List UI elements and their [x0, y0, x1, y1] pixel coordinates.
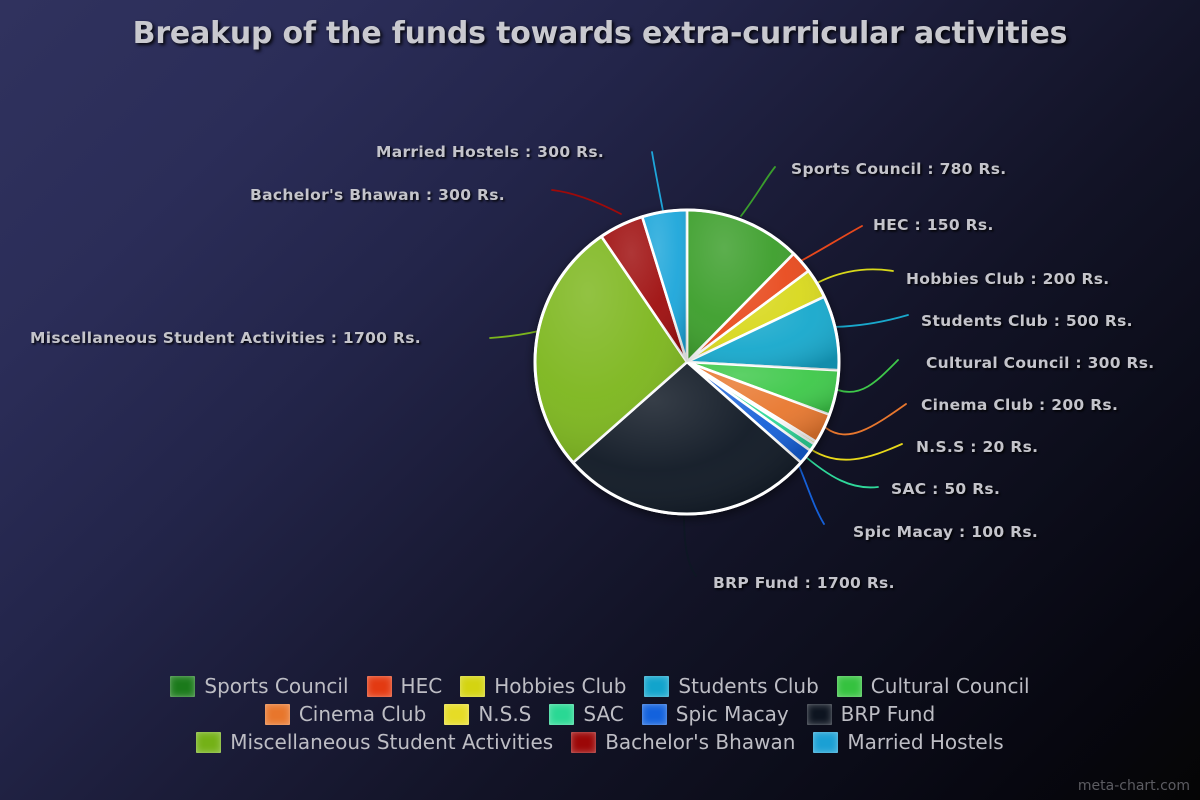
legend-label-sports-council: Sports Council — [204, 676, 348, 696]
leader-line-brp-fund — [684, 514, 696, 576]
legend-item-sports-council[interactable]: Sports Council — [170, 676, 348, 697]
legend-label-spic-macay: Spic Macay — [676, 704, 789, 724]
leader-line-sports-council — [741, 167, 775, 216]
legend-label-brp-fund: BRP Fund — [841, 704, 936, 724]
legend-item-hobbies-club[interactable]: Hobbies Club — [460, 676, 626, 697]
legend-swatch-bachelor-s-bhawan — [571, 732, 596, 753]
legend-row: Sports CouncilHECHobbies ClubStudents Cl… — [0, 672, 1200, 700]
legend-swatch-hobbies-club — [460, 676, 485, 697]
callout-label-sports-council: Sports Council : 780 Rs. — [791, 160, 1006, 178]
callout-label-miscellaneous-student-activities: Miscellaneous Student Activities : 1700 … — [30, 329, 421, 347]
legend-item-cinema-club[interactable]: Cinema Club — [265, 704, 427, 725]
legend-item-miscellaneous-student-activities[interactable]: Miscellaneous Student Activities — [196, 732, 553, 753]
legend-swatch-brp-fund — [807, 704, 832, 725]
callout-label-hobbies-club: Hobbies Club : 200 Rs. — [906, 270, 1109, 288]
legend-label-hobbies-club: Hobbies Club — [494, 676, 626, 696]
callout-label-sac: SAC : 50 Rs. — [891, 480, 1000, 498]
legend-swatch-students-club — [644, 676, 669, 697]
legend-item-married-hostels[interactable]: Married Hostels — [813, 732, 1003, 753]
leader-line-cultural-council — [838, 360, 898, 392]
legend-item-hec[interactable]: HEC — [367, 676, 443, 697]
legend-item-spic-macay[interactable]: Spic Macay — [642, 704, 789, 725]
legend-swatch-cinema-club — [265, 704, 290, 725]
callout-label-bachelors-bhawan: Bachelor's Bhawan : 300 Rs. — [250, 186, 505, 204]
legend-label-bachelor-s-bhawan: Bachelor's Bhawan — [605, 732, 795, 752]
legend-swatch-spic-macay — [642, 704, 667, 725]
legend-swatch-sports-council — [170, 676, 195, 697]
legend-swatch-married-hostels — [813, 732, 838, 753]
callout-label-cultural-council: Cultural Council : 300 Rs. — [926, 354, 1154, 372]
callout-label-married-hostels: Married Hostels : 300 Rs. — [376, 143, 604, 161]
legend-item-n-s-s[interactable]: N.S.S — [444, 704, 531, 725]
callout-label-spic-macay: Spic Macay : 100 Rs. — [853, 523, 1038, 541]
chart-legend: Sports CouncilHECHobbies ClubStudents Cl… — [0, 672, 1200, 756]
leader-line-hobbies-club — [810, 269, 893, 287]
legend-swatch-n-s-s — [444, 704, 469, 725]
legend-item-brp-fund[interactable]: BRP Fund — [807, 704, 936, 725]
legend-swatch-hec — [367, 676, 392, 697]
callout-label-cinema-club: Cinema Club : 200 Rs. — [921, 396, 1118, 414]
watermark: meta-chart.com — [1078, 778, 1190, 794]
leader-line-students-club — [828, 315, 908, 327]
callout-label-nss: N.S.S : 20 Rs. — [916, 438, 1038, 456]
callout-label-brp-fund: BRP Fund : 1700 Rs. — [713, 574, 895, 592]
legend-swatch-miscellaneous-student-activities — [196, 732, 221, 753]
legend-label-miscellaneous-student-activities: Miscellaneous Student Activities — [230, 732, 553, 752]
leader-line-bachelors-bhawan — [552, 190, 621, 214]
legend-swatch-cultural-council — [837, 676, 862, 697]
callout-label-hec: HEC : 150 Rs. — [873, 216, 994, 234]
legend-label-sac: SAC — [583, 704, 623, 724]
legend-row: Cinema ClubN.S.SSACSpic MacayBRP Fund — [0, 700, 1200, 728]
legend-label-cultural-council: Cultural Council — [871, 676, 1030, 696]
leader-line-nss — [806, 444, 902, 460]
leader-line-hec — [797, 226, 862, 263]
legend-label-married-hostels: Married Hostels — [847, 732, 1003, 752]
leader-line-cinema-club — [826, 404, 906, 434]
pie-slice-layer — [535, 210, 839, 514]
legend-item-cultural-council[interactable]: Cultural Council — [837, 676, 1030, 697]
legend-item-sac[interactable]: SAC — [549, 704, 623, 725]
legend-swatch-sac — [549, 704, 574, 725]
legend-label-cinema-club: Cinema Club — [299, 704, 427, 724]
callout-label-students-club: Students Club : 500 Rs. — [921, 312, 1133, 330]
legend-item-bachelor-s-bhawan[interactable]: Bachelor's Bhawan — [571, 732, 795, 753]
legend-item-students-club[interactable]: Students Club — [644, 676, 818, 697]
legend-label-n-s-s: N.S.S — [478, 704, 531, 724]
legend-label-students-club: Students Club — [678, 676, 818, 696]
legend-label-hec: HEC — [401, 676, 443, 696]
legend-row: Miscellaneous Student ActivitiesBachelor… — [0, 728, 1200, 756]
pie-chart-figure: Breakup of the funds towards extra-curri… — [0, 0, 1200, 800]
